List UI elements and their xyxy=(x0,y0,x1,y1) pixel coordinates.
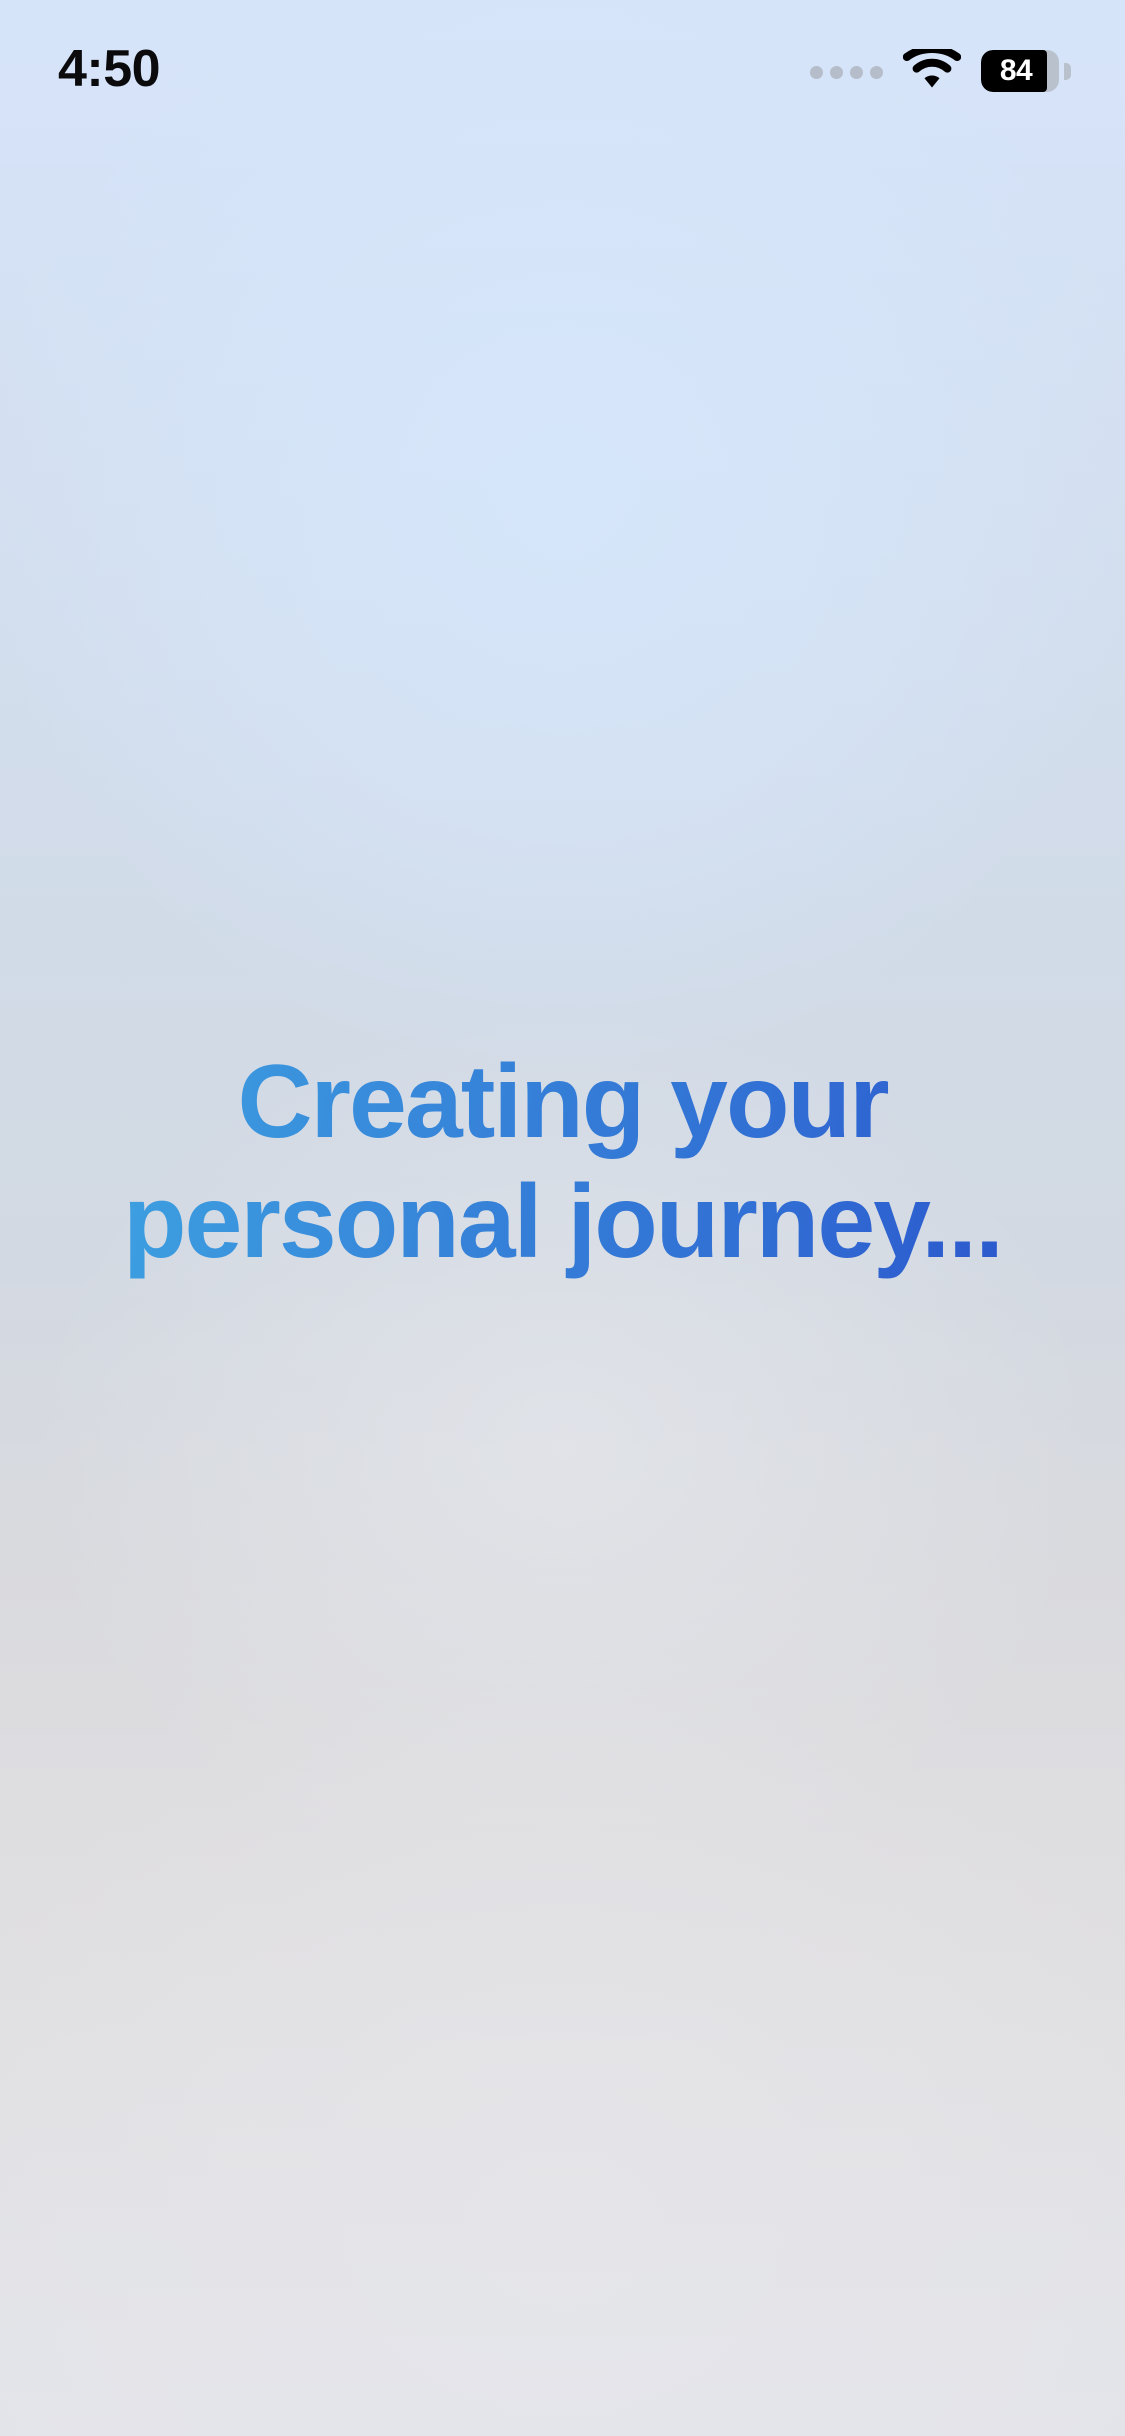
battery-level-label: 84 xyxy=(981,56,1059,86)
app-screen: 4:50 84 Cre xyxy=(0,0,1125,2436)
battery-icon: 84 xyxy=(981,50,1063,92)
signal-dot xyxy=(830,66,843,79)
wifi-icon xyxy=(903,49,961,91)
status-bar-icons: 84 xyxy=(810,49,1063,93)
status-bar: 4:50 84 xyxy=(0,0,1125,132)
signal-dot xyxy=(850,66,863,79)
battery-cap xyxy=(1064,63,1071,80)
signal-dot xyxy=(810,66,823,79)
signal-dot xyxy=(870,66,883,79)
signal-dots-icon xyxy=(810,66,883,79)
status-bar-time: 4:50 xyxy=(58,43,160,95)
main-content: Creating your personal journey... xyxy=(0,0,1125,2436)
loading-message-block: Creating your personal journey... xyxy=(58,1043,1068,1282)
battery-body: 84 xyxy=(981,50,1059,92)
loading-title: Creating your personal journey... xyxy=(58,1043,1068,1282)
